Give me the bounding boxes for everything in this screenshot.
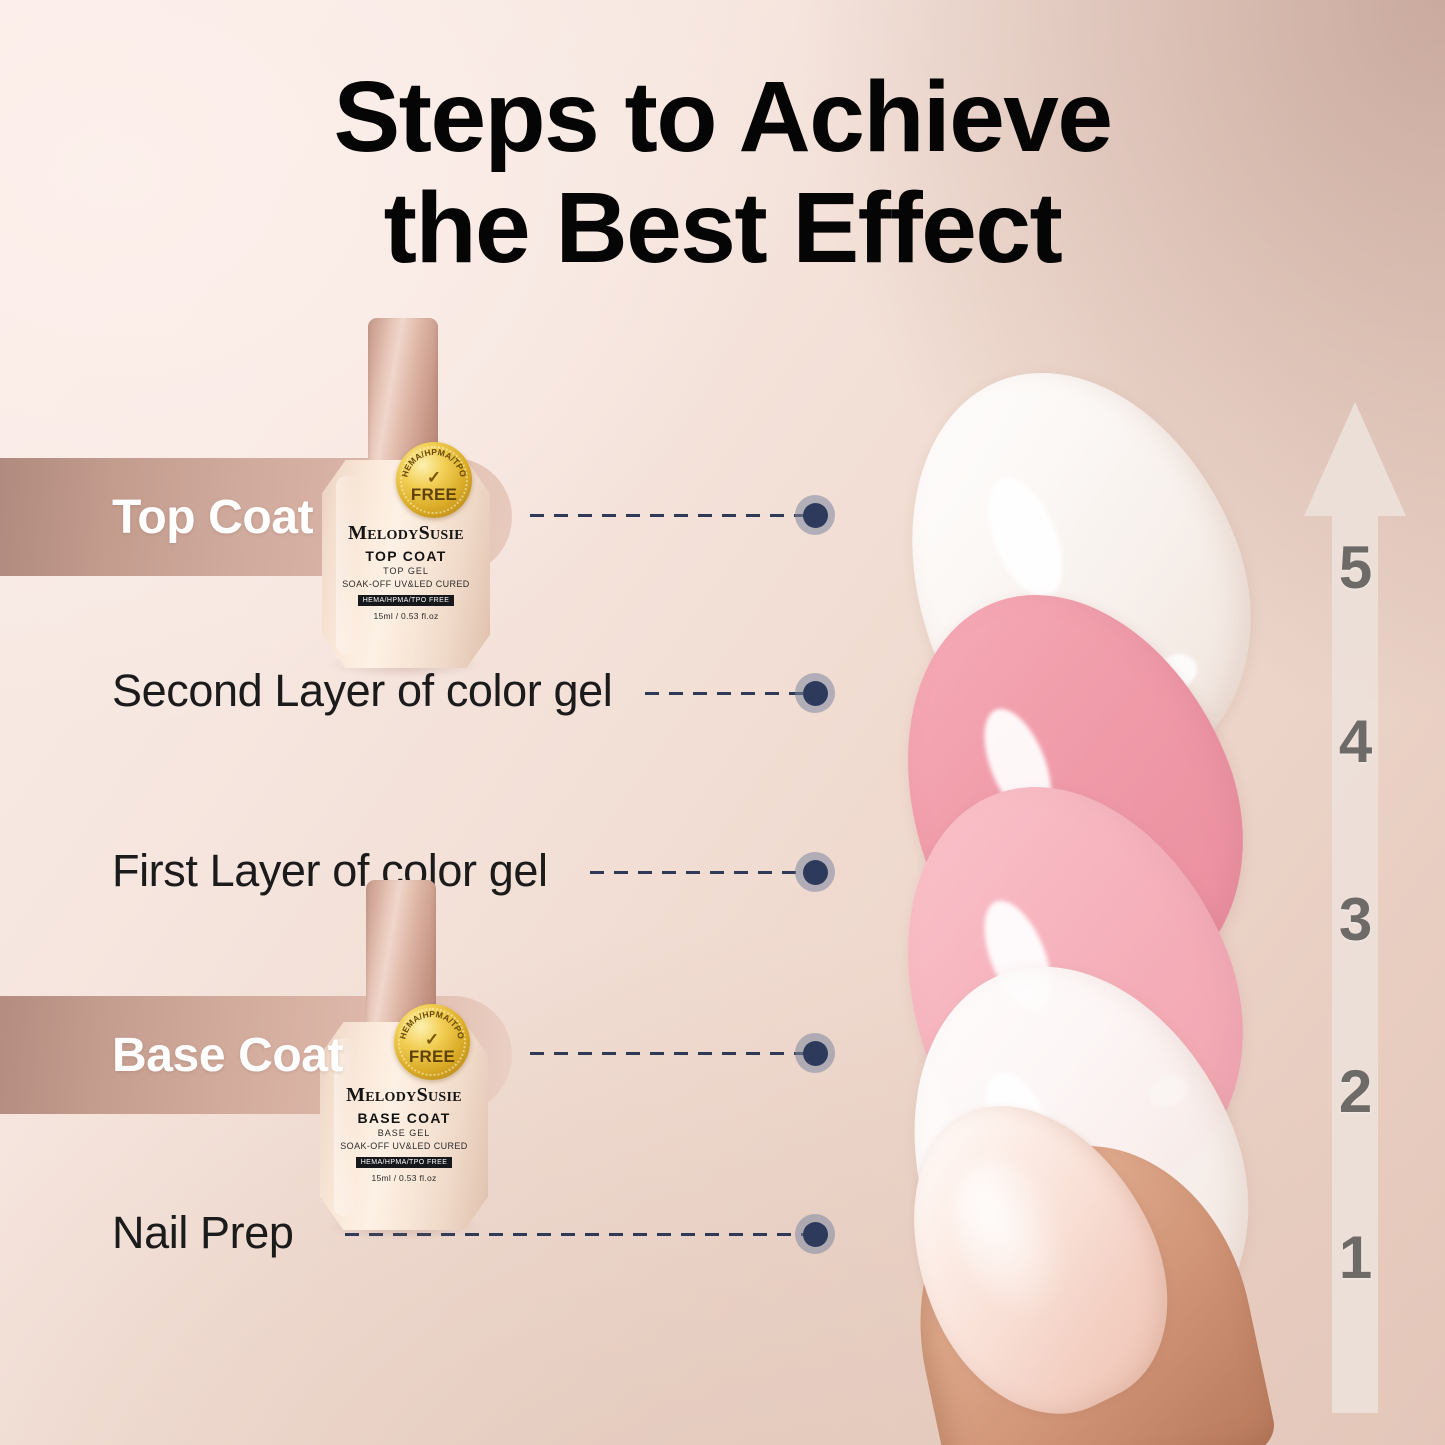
check-icon: ✓	[427, 469, 441, 486]
scale-number-4: 4	[1300, 712, 1410, 772]
bottle-volume: 15ml / 0.53 fl.oz	[320, 1174, 488, 1183]
seal-free-label: FREE	[394, 1048, 470, 1065]
scale-number-3: 3	[1300, 890, 1410, 950]
bottle-label-text: MelodySusie TOP COAT TOP GEL SOAK-OFF UV…	[322, 523, 490, 621]
scale-number-2: 2	[1300, 1062, 1410, 1122]
bottle-brand: MelodySusie	[320, 1085, 488, 1105]
connector-line-first-layer	[590, 871, 808, 874]
connector-line-base-coat	[530, 1052, 808, 1055]
bottle-subtitle: TOP GEL	[322, 567, 490, 576]
scale-number-1: 1	[1300, 1228, 1410, 1288]
connector-dot-nail-prep	[795, 1214, 835, 1254]
bottle-subtitle: BASE GEL	[320, 1129, 488, 1138]
connector-line-second-layer	[645, 692, 808, 695]
seal-free-label: FREE	[396, 486, 472, 503]
connector-dot-second-layer	[795, 673, 835, 713]
step-label-top-coat: Top Coat	[112, 490, 313, 545]
connector-line-top-coat	[530, 514, 808, 517]
bottle-base-coat: MelodySusie BASE COAT BASE GEL SOAK-OFF …	[320, 880, 488, 1230]
bottle-top-coat: MelodySusie TOP COAT TOP GEL SOAK-OFF UV…	[322, 318, 490, 668]
infographic-canvas: Steps to Achieve the Best Effect Top Coa…	[0, 0, 1445, 1445]
hema-free-seal-icon: HEMA/HPMA/TPO ✓ FREE	[394, 1004, 470, 1080]
bottle-volume: 15ml / 0.53 fl.oz	[322, 612, 490, 621]
title-line-2: the Best Effect	[120, 173, 1325, 284]
bottle-product-name: TOP COAT	[322, 549, 490, 563]
bottle-cure-text: SOAK-OFF UV&LED CURED	[322, 580, 490, 589]
title-line-1: Steps to Achieve	[333, 61, 1111, 173]
connector-dot-first-layer	[795, 852, 835, 892]
step-label-base-coat: Base Coat	[112, 1028, 343, 1083]
nail-gloss-highlight	[930, 1142, 1098, 1337]
bottle-product-name: BASE COAT	[320, 1111, 488, 1125]
hema-free-seal-icon: HEMA/HPMA/TPO ✓ FREE	[396, 442, 472, 518]
bottle-label-text: MelodySusie BASE COAT BASE GEL SOAK-OFF …	[320, 1085, 488, 1183]
connector-dot-top-coat	[795, 495, 835, 535]
bottle-free-badge: HEMA/HPMA/TPO FREE	[358, 595, 455, 606]
bottle-cure-text: SOAK-OFF UV&LED CURED	[320, 1142, 488, 1151]
bottle-brand: MelodySusie	[322, 523, 490, 543]
check-icon: ✓	[425, 1031, 439, 1048]
bottle-free-badge: HEMA/HPMA/TPO FREE	[356, 1157, 453, 1168]
connector-dot-base-coat	[795, 1033, 835, 1073]
page-title: Steps to Achieve the Best Effect	[0, 62, 1445, 284]
scale-number-5: 5	[1300, 538, 1410, 598]
step-label-nail-prep: Nail Prep	[112, 1207, 293, 1259]
